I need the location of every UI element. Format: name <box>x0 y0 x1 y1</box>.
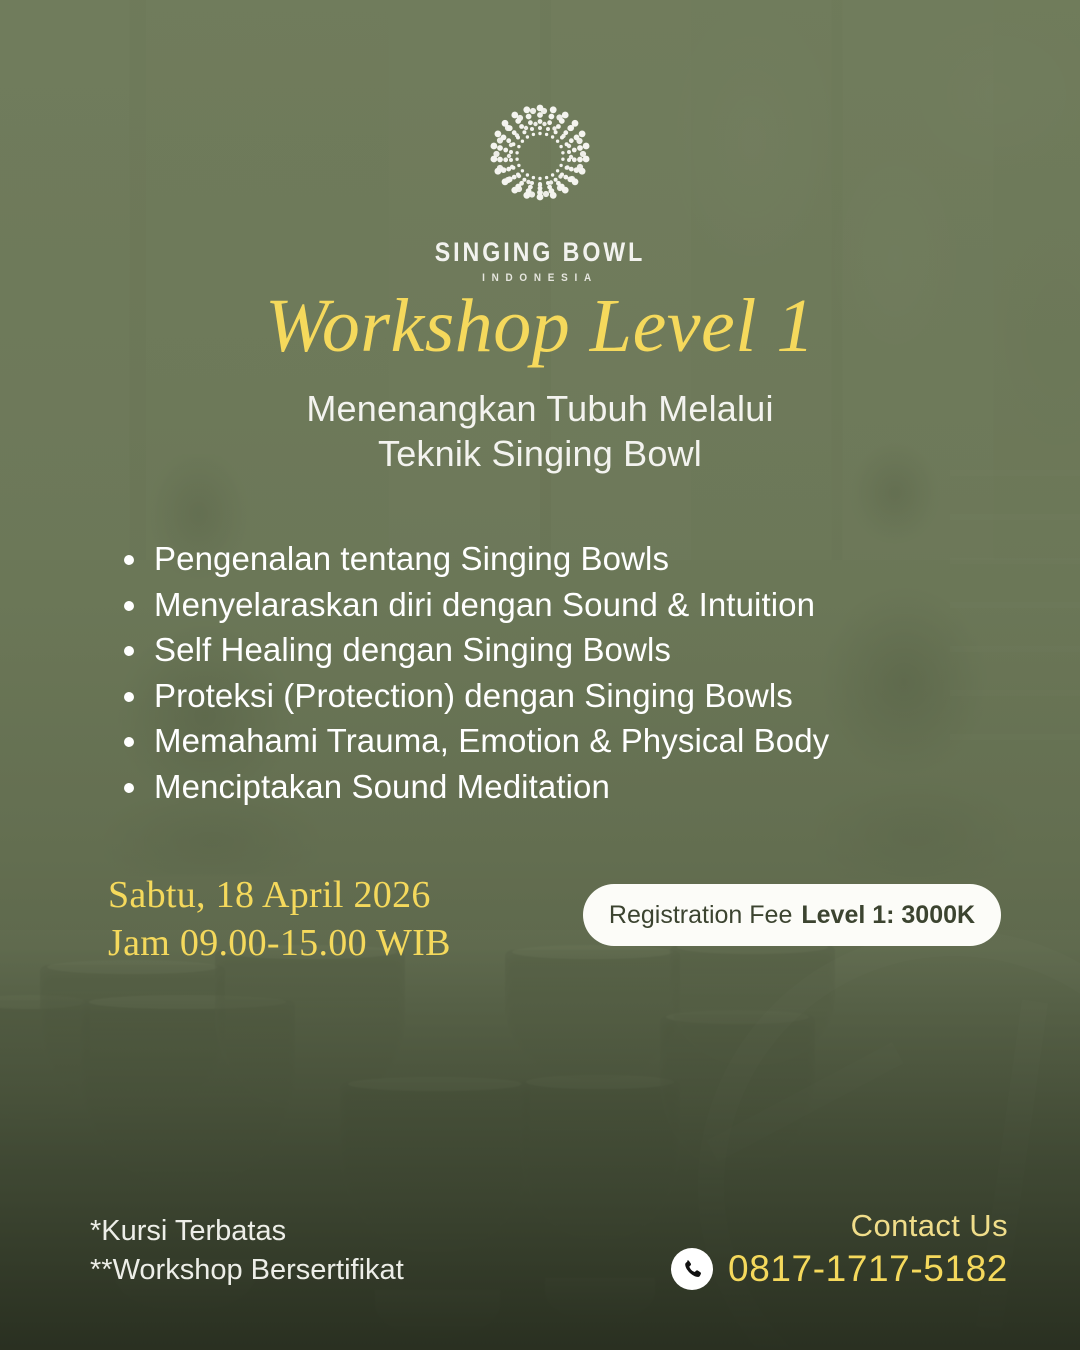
contact-row[interactable]: 0817-1717-5182 <box>671 1248 1008 1290</box>
subtitle-line-2: Teknik Singing Bowl <box>0 431 1080 476</box>
logo-title: SINGING BOWL <box>76 237 1005 268</box>
list-item: Menyelaraskan diri dengan Sound & Intuit… <box>118 582 829 628</box>
list-item: Proteksi (Protection) dengan Singing Bow… <box>118 673 829 719</box>
topics-list: Pengenalan tentang Singing Bowls Menyela… <box>118 536 829 809</box>
contact-label: Contact Us <box>671 1208 1008 1244</box>
fee-value: Level 1: 3000K <box>801 901 975 930</box>
list-item: Self Healing dengan Singing Bowls <box>118 627 829 673</box>
footnote-line-2: **Workshop Bersertifikat <box>90 1251 404 1290</box>
footnote-line-1: *Kursi Terbatas <box>90 1212 404 1251</box>
contact-block: Contact Us 0817-1717-5182 <box>671 1208 1008 1290</box>
logo-subtitle: INDONESIA <box>54 272 1026 284</box>
phone-icon <box>671 1248 713 1290</box>
brand-logo: SINGING BOWL INDONESIA <box>0 95 1080 284</box>
list-item: Pengenalan tentang Singing Bowls <box>118 536 829 582</box>
footnotes: *Kursi Terbatas **Workshop Bersertifikat <box>90 1212 404 1291</box>
mandala-dot-icon <box>476 95 604 223</box>
poster-canvas: SINGING BOWL INDONESIA Workshop Level 1 … <box>0 0 1080 1350</box>
registration-fee-badge[interactable]: Registration Fee Level 1: 3000K <box>583 884 1001 946</box>
list-item: Memahami Trauma, Emotion & Physical Body <box>118 718 829 764</box>
list-item: Menciptakan Sound Meditation <box>118 764 829 810</box>
page-subtitle: Menenangkan Tubuh Melalui Teknik Singing… <box>0 386 1080 477</box>
schedule-block: Sabtu, 18 April 2026 Jam 09.00-15.00 WIB <box>108 872 451 968</box>
subtitle-line-1: Menenangkan Tubuh Melalui <box>0 386 1080 431</box>
event-time: Jam 09.00-15.00 WIB <box>108 920 451 968</box>
event-date: Sabtu, 18 April 2026 <box>108 872 451 920</box>
page-title: Workshop Level 1 <box>0 288 1080 364</box>
poster-content: SINGING BOWL INDONESIA Workshop Level 1 … <box>0 0 1080 1350</box>
contact-phone-number[interactable]: 0817-1717-5182 <box>728 1248 1008 1290</box>
fee-label: Registration Fee <box>609 901 792 930</box>
